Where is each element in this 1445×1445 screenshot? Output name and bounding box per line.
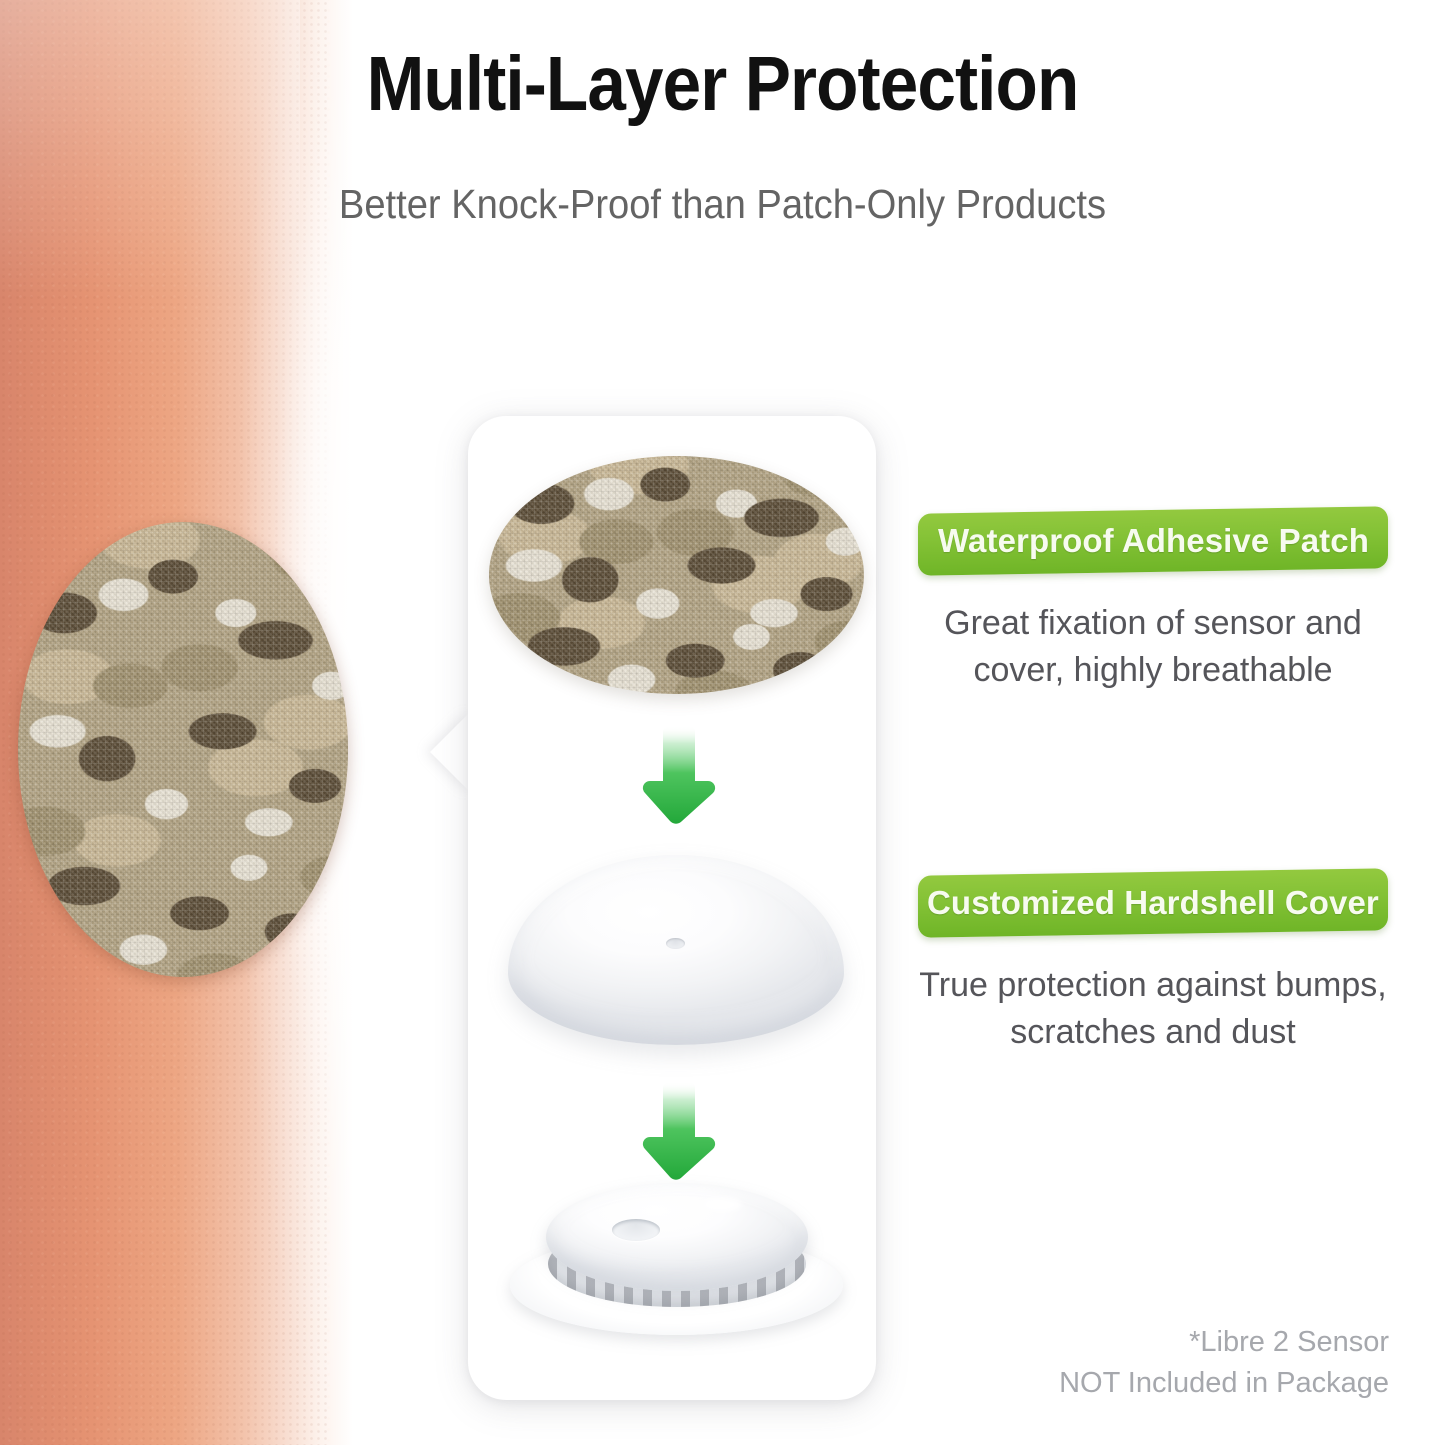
down-arrow-icon bbox=[630, 1078, 722, 1184]
feature-badge-label: Customized Hardshell Cover bbox=[927, 884, 1379, 922]
feature-badge: Waterproof Adhesive Patch bbox=[918, 506, 1388, 575]
footnote-line-2: NOT Included in Package bbox=[929, 1363, 1389, 1404]
footnote: *Libre 2 Sensor NOT Included in Package bbox=[929, 1322, 1389, 1404]
page-subtitle: Better Knock-Proof than Patch-Only Produ… bbox=[51, 184, 1395, 225]
feature-description: Great fixation of sensor and cover, high… bbox=[918, 600, 1388, 694]
feature-waterproof-adhesive-patch: Waterproof Adhesive Patch Great fixation… bbox=[918, 510, 1388, 694]
sensor-gloss-highlight bbox=[702, 1197, 742, 1212]
feature-customized-hardshell-cover: Customized Hardshell Cover True protecti… bbox=[918, 872, 1388, 1056]
callout-pointer bbox=[430, 712, 470, 792]
camo-patch-on-arm bbox=[18, 522, 348, 977]
layer-waterproof-adhesive-patch bbox=[489, 456, 864, 694]
hardshell-center-dimple bbox=[666, 938, 685, 949]
feature-badge-label: Waterproof Adhesive Patch bbox=[938, 522, 1369, 560]
feature-description: True protection against bumps, scratches… bbox=[918, 962, 1388, 1056]
sensor-top-puck bbox=[546, 1183, 808, 1291]
sensor-center-cap bbox=[612, 1219, 660, 1241]
footnote-line-1: *Libre 2 Sensor bbox=[929, 1322, 1389, 1363]
feature-badge: Customized Hardshell Cover bbox=[918, 868, 1388, 937]
hardshell-dome bbox=[508, 855, 844, 1045]
down-arrow-icon bbox=[630, 722, 722, 828]
layer-libre-2-sensor bbox=[504, 1183, 849, 1333]
page-title: Multi-Layer Protection bbox=[72, 46, 1373, 123]
layer-hardshell-cover bbox=[508, 855, 844, 1045]
